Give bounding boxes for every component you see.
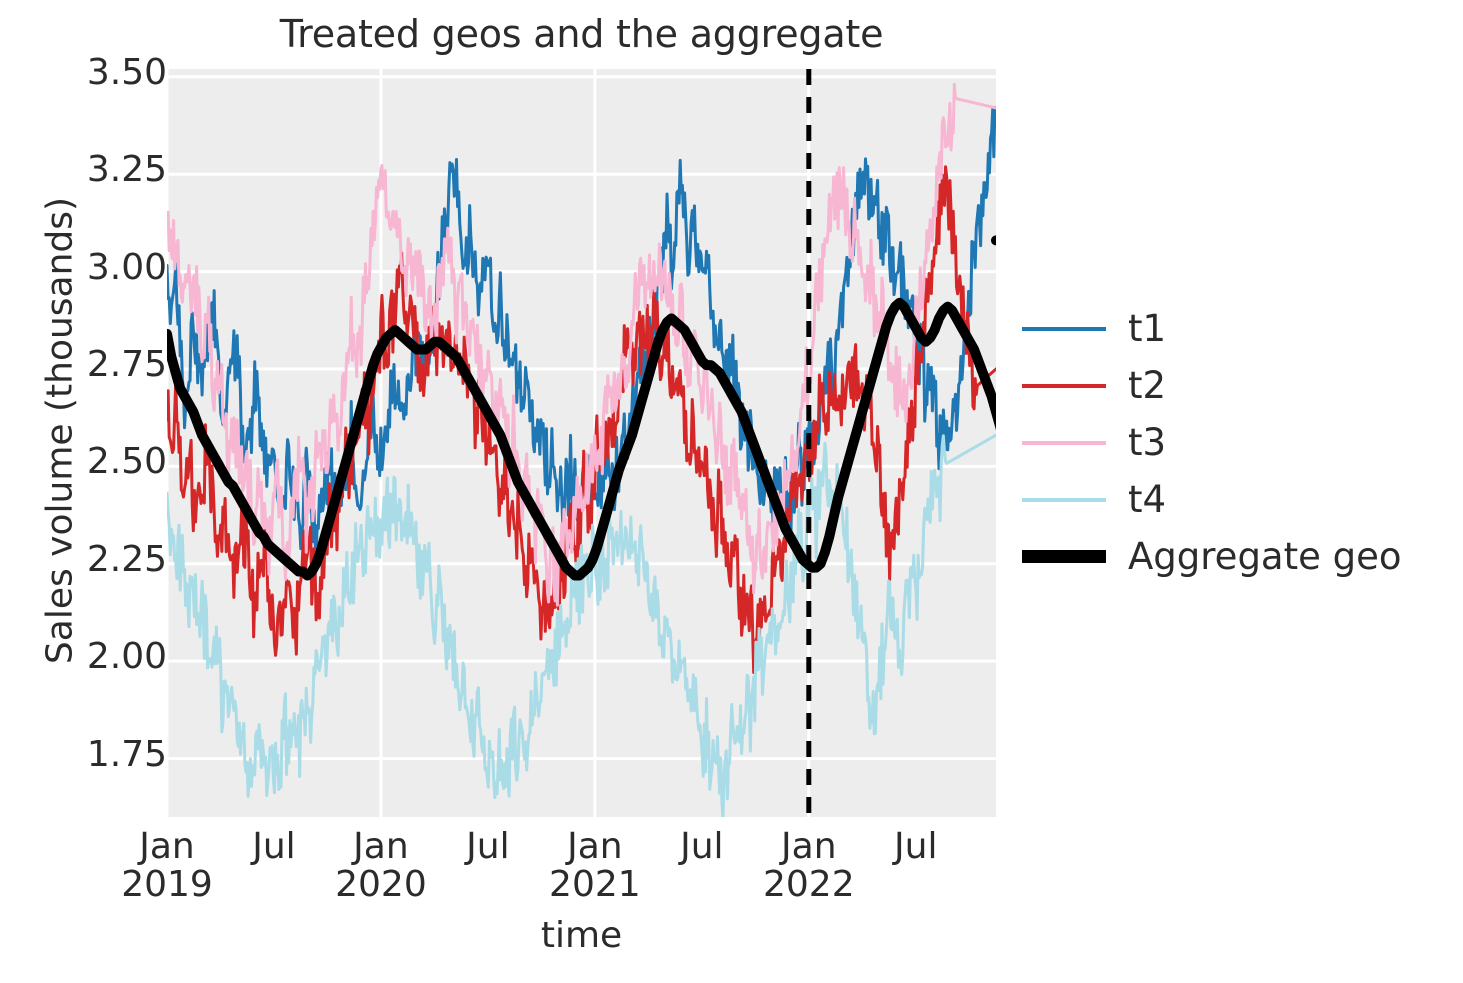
legend-item-t3[interactable]: t3 [1022,414,1452,471]
legend-item-t4[interactable]: t4 [1022,471,1452,528]
chart-figure: Treated geos and the aggregate Sales vol… [0,0,1463,983]
y-tick-label: 3.50 [17,52,167,93]
x-tick-year: 2020 [321,866,441,905]
x-tick-label: Jan2019 [107,829,227,905]
y-tick-label: 2.75 [17,344,167,385]
x-tick-label: Jan2020 [321,829,441,905]
chart-title: Treated geos and the aggregate [167,12,996,56]
legend-label: t2 [1128,364,1166,407]
x-tick-label: Jan2022 [749,829,869,905]
y-tick-label: 2.25 [17,539,167,580]
legend-label: t1 [1128,307,1166,350]
y-tick-label: 1.75 [17,734,167,775]
legend-swatch-line-icon [1022,441,1106,445]
y-tick-label: 2.00 [17,636,167,677]
x-tick-label: Jul [214,829,334,866]
legend-label: t3 [1128,421,1166,464]
x-tick-month: Jul [214,829,334,866]
legend-swatch-line-icon [1022,498,1106,502]
x-tick-month: Jan [749,829,869,866]
x-tick-year: 2021 [535,866,655,905]
x-tick-month: Jul [642,829,762,866]
x-tick-month: Jan [107,829,227,866]
x-axis-label: time [167,915,996,956]
y-tick-label: 3.25 [17,149,167,190]
y-tick-label: 3.00 [17,247,167,288]
x-tick-label: Jan2021 [535,829,655,905]
x-tick-label: Jul [428,829,548,866]
x-tick-month: Jan [535,829,655,866]
x-tick-month: Jul [428,829,548,866]
legend-item-aggregate-geo[interactable]: Aggregate geo [1022,528,1452,585]
chart-legend: t1t2t3t4Aggregate geo [1022,300,1452,585]
x-tick-label: Jul [856,829,976,866]
x-tick-label: Jul [642,829,762,866]
x-tick-month: Jul [856,829,976,866]
legend-label: t4 [1128,478,1166,521]
legend-item-t1[interactable]: t1 [1022,300,1452,357]
plot-area [167,69,996,817]
x-tick-year: 2019 [107,866,227,905]
x-tick-year: 2022 [749,866,869,905]
legend-swatch-line-icon [1022,384,1106,388]
plot-svg [167,69,996,817]
series-lines [167,84,996,817]
legend-swatch-line-icon [1022,327,1106,331]
x-tick-month: Jan [321,829,441,866]
legend-item-t2[interactable]: t2 [1022,357,1452,414]
y-tick-label: 2.50 [17,441,167,482]
legend-label: Aggregate geo [1128,535,1402,578]
legend-swatch-line-icon [1022,550,1106,563]
